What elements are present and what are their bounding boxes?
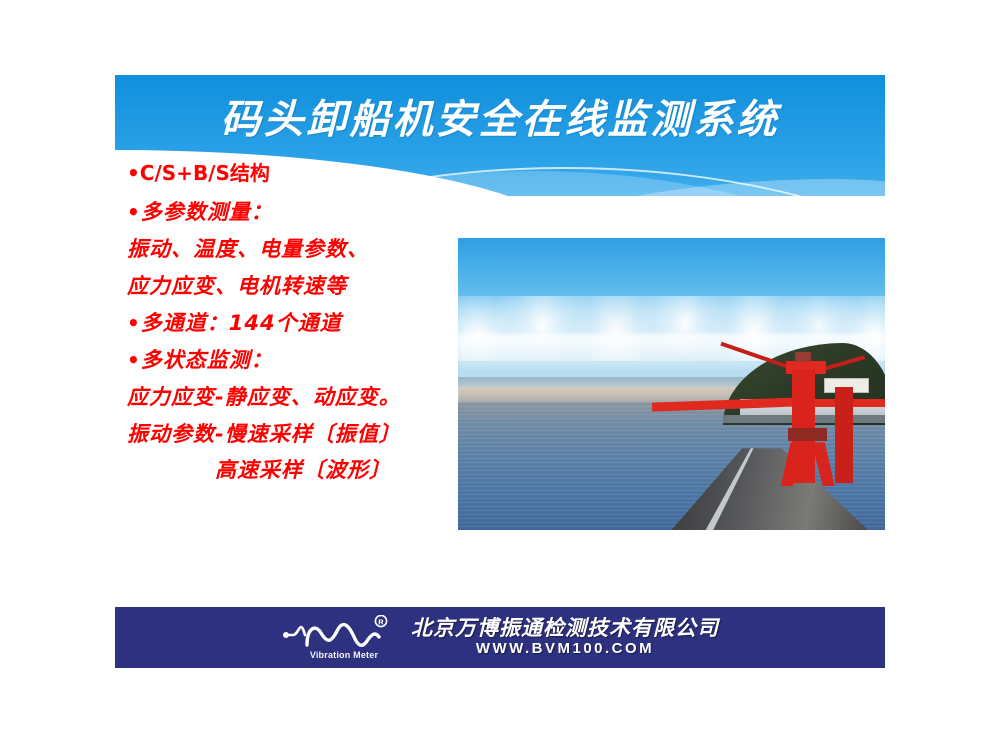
waveform-logo-icon: R [281, 615, 401, 651]
ship-unloader-photo [458, 238, 885, 530]
bullet-label-7: 应力应变-静应变、动应变。 [127, 385, 401, 409]
bullet-label-5: 多通道：144个通道 [141, 311, 342, 335]
bullet-line-1: •C/S+B/S结构 [127, 163, 487, 183]
bullet-marker-1: • [127, 161, 140, 185]
bullet-label-1: C/S+B/S结构 [140, 161, 270, 185]
bullet-marker-6: • [127, 348, 141, 372]
bullet-label-2: 多参数测量： [141, 200, 273, 224]
footer-content: R Vibration Meter 北京万博振通检测技术有限公司 WWW.BVM… [115, 607, 885, 668]
bullet-marker-2: • [127, 200, 141, 224]
bullet-label-8: 振动参数-慢速采样〔振值〕 [127, 422, 401, 446]
crane-machinery [788, 428, 827, 441]
bullet-label-9: 高速采样〔波形〕 [215, 458, 391, 482]
vibration-meter-logo: R Vibration Meter [281, 615, 401, 661]
footer-bar: R Vibration Meter 北京万博振通检测技术有限公司 WWW.BVM… [115, 607, 885, 668]
bullet-line-2: •多参数测量： [127, 202, 487, 223]
bullet-label-3: 振动、温度、电量参数、 [127, 237, 369, 261]
bullet-line-5: •多通道：144个通道 [127, 313, 487, 334]
bullet-line-4: 应力应变、电机转速等 [127, 276, 487, 297]
bullet-line-9: 高速采样〔波形〕 [127, 460, 487, 481]
slide-title: 码头卸船机安全在线监测系统 [115, 99, 885, 141]
photo-crane [727, 355, 885, 501]
bullet-label-6: 多状态监测： [141, 348, 273, 372]
bullet-line-8: 振动参数-慢速采样〔振值〕 [127, 424, 487, 445]
bullet-label-4: 应力应变、电机转速等 [127, 274, 347, 298]
svg-text:R: R [378, 617, 384, 626]
bullet-text-block: •C/S+B/S结构 •多参数测量： 振动、温度、电量参数、 应力应变、电机转速… [127, 163, 487, 497]
crane-cab [795, 352, 811, 362]
company-website: WWW.BVM100.COM [411, 640, 719, 658]
logo-caption: Vibration Meter [289, 650, 399, 660]
bullet-line-7: 应力应变-静应变、动应变。 [127, 387, 487, 408]
bullet-marker-5: • [127, 311, 141, 335]
bullet-line-6: •多状态监测： [127, 350, 487, 371]
crane-tower-right [835, 387, 853, 483]
bullet-line-3: 振动、温度、电量参数、 [127, 239, 487, 260]
slide-canvas: 码头卸船机安全在线监测系统 •C/S+B/S结构 •多参数测量： 振动、温度、电… [0, 0, 1000, 750]
company-name-cn: 北京万博振通检测技术有限公司 [411, 617, 719, 639]
footer-company-block: 北京万博振通检测技术有限公司 WWW.BVM100.COM [411, 617, 719, 658]
